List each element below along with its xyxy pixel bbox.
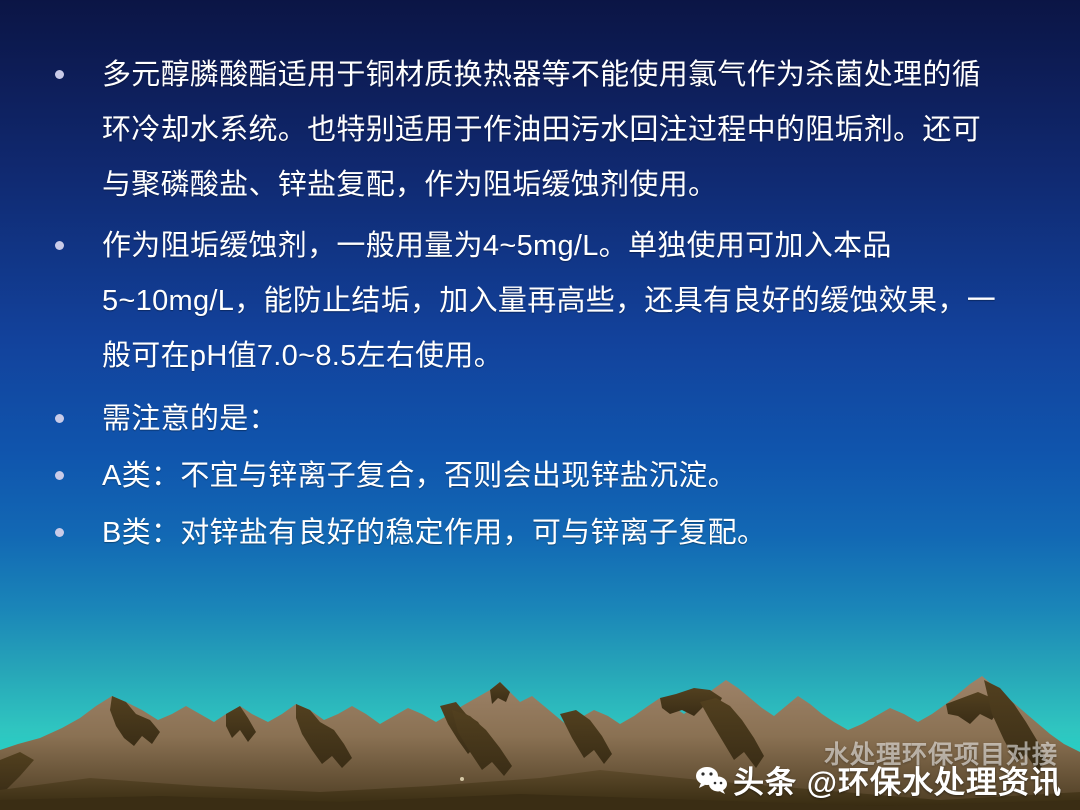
- cursor-artifact: [460, 777, 464, 781]
- bullet-text: 作为阻垢缓蚀剂，一般用量为4~5mg/L。单独使用可加入本品5~10mg/L，能…: [102, 219, 1002, 384]
- slide-body: 多元醇膦酸酯适用于铜材质换热器等不能使用氯气作为杀菌处理的循环冷却水系统。也特别…: [0, 0, 1080, 561]
- bullet-marker-icon: [55, 241, 64, 250]
- list-item: A类：不宜与锌离子复合，否则会出现锌盐沉淀。: [0, 449, 1080, 504]
- wechat-icon: [695, 765, 729, 795]
- watermark-bottom: 头条 @环保水处理资讯: [695, 757, 1062, 802]
- list-item: B类：对锌盐有良好的稳定作用，可与锌离子复配。: [0, 506, 1080, 561]
- watermark-bottom-label: 头条 @环保水处理资讯: [733, 757, 1062, 802]
- list-item: 多元醇膦酸酯适用于铜材质换热器等不能使用氯气作为杀菌处理的循环冷却水系统。也特别…: [0, 48, 1080, 213]
- list-item: 作为阻垢缓蚀剂，一般用量为4~5mg/L。单独使用可加入本品5~10mg/L，能…: [0, 219, 1080, 384]
- wechat-icon-svg: [695, 765, 729, 795]
- list-item: 需注意的是：: [0, 392, 1080, 447]
- presentation-slide: 多元醇膦酸酯适用于铜材质换热器等不能使用氯气作为杀菌处理的循环冷却水系统。也特别…: [0, 0, 1080, 810]
- bullet-marker-icon: [55, 70, 64, 79]
- bullet-text: 多元醇膦酸酯适用于铜材质换热器等不能使用氯气作为杀菌处理的循环冷却水系统。也特别…: [102, 48, 1002, 213]
- bullet-marker-icon: [55, 414, 64, 423]
- bullet-text: 需注意的是：: [102, 392, 278, 447]
- bullet-marker-icon: [55, 471, 64, 480]
- bullet-text: B类：对锌盐有良好的稳定作用，可与锌离子复配。: [102, 506, 766, 561]
- bullet-marker-icon: [55, 528, 64, 537]
- bullet-text: A类：不宜与锌离子复合，否则会出现锌盐沉淀。: [102, 449, 737, 504]
